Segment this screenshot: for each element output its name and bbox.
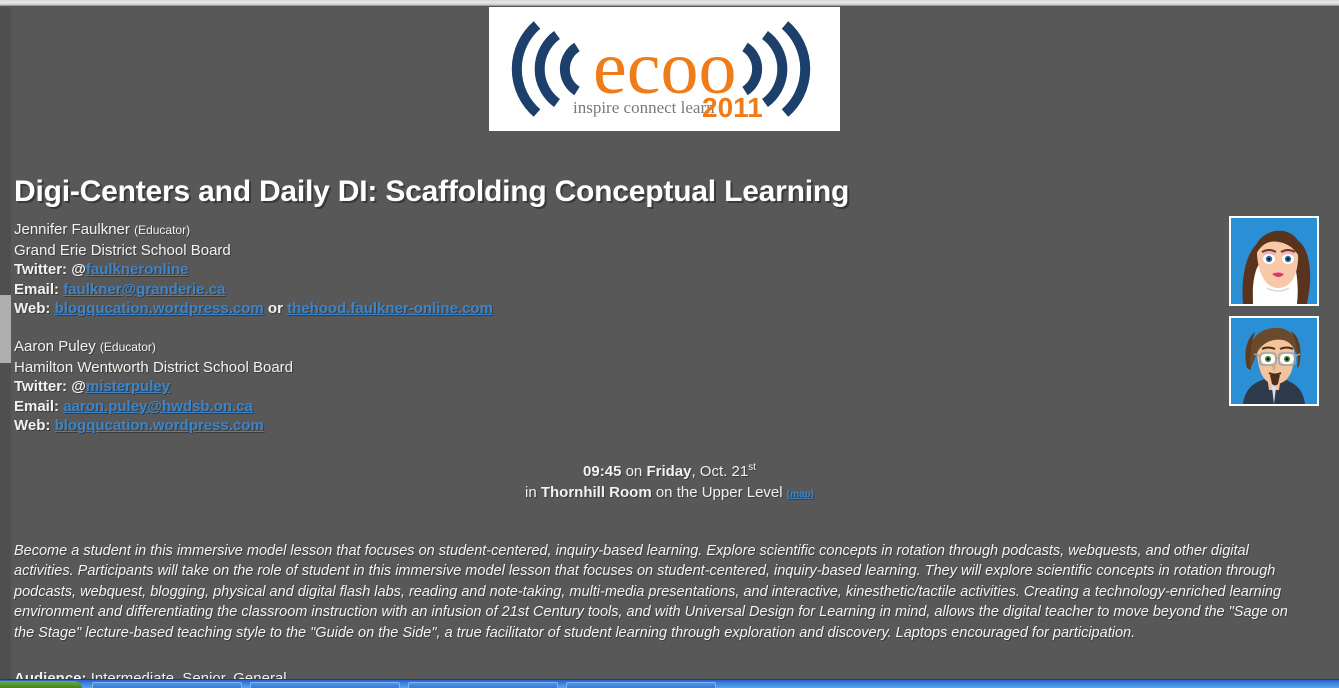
start-button[interactable]	[0, 681, 82, 688]
twitter-at-symbol: @	[71, 261, 86, 278]
session-level: on the Upper Level	[656, 484, 783, 501]
web-link-primary[interactable]: blogqucation.wordpress.com	[55, 417, 264, 434]
presenter-organization: Grand Erie District School Board	[14, 241, 493, 261]
presenter-organization: Hamilton Wentworth District School Board	[14, 358, 293, 378]
email-label: Email:	[14, 281, 59, 298]
presenter-role: (Educator)	[134, 223, 190, 237]
windows-taskbar	[0, 679, 1339, 688]
svg-text:inspire connect learn: inspire connect learn	[573, 98, 715, 117]
web-link-joiner: or	[268, 300, 283, 317]
web-link-primary[interactable]: blogqucation.wordpress.com	[55, 300, 264, 317]
twitter-label: Twitter:	[14, 378, 67, 395]
session-time-line: 09:45 on Friday, Oct. 21st	[0, 457, 1339, 482]
email-label: Email:	[14, 398, 59, 415]
taskbar-item[interactable]	[92, 682, 242, 688]
twitter-at-symbol: @	[71, 378, 86, 395]
presenter-twitter-line: Twitter: @misterpuley	[14, 377, 293, 397]
avatar	[1229, 216, 1319, 306]
email-link[interactable]: aaron.puley@hwdsb.on.ca	[63, 398, 253, 415]
browser-chrome-edge	[0, 0, 1339, 6]
session-room: Thornhill Room	[541, 484, 652, 501]
presenter-email-line: Email: aaron.puley@hwdsb.on.ca	[14, 397, 293, 417]
presenter-name-line: Aaron Puley (Educator)	[14, 337, 293, 358]
session-page: ecoo inspire connect learn 2011 Digi-Cen…	[0, 7, 1339, 688]
presenter-twitter-line: Twitter: @faulkneronline	[14, 260, 493, 280]
web-label: Web:	[14, 300, 50, 317]
ecoo-logo: ecoo inspire connect learn 2011	[489, 7, 840, 131]
page-title: Digi-Centers and Daily DI: Scaffolding C…	[14, 175, 849, 209]
taskbar-item[interactable]	[566, 682, 716, 688]
presenter-email-line: Email: faulkner@granderie.ca	[14, 280, 493, 300]
twitter-label: Twitter:	[14, 261, 67, 278]
twitter-handle-link[interactable]: misterpuley	[86, 378, 170, 395]
twitter-handle-link[interactable]: faulkneronline	[86, 261, 189, 278]
presenter-block: Jennifer Faulkner (Educator) Grand Erie …	[14, 220, 493, 319]
web-link-secondary[interactable]: thehood.faulkner-online.com	[287, 300, 493, 317]
taskbar-item[interactable]	[250, 682, 400, 688]
session-day: Friday	[646, 463, 691, 480]
presenter-name: Aaron Puley	[14, 338, 96, 355]
session-date-ordinal: st	[748, 462, 756, 473]
session-date: , Oct. 21	[691, 463, 748, 480]
presenter-block: Aaron Puley (Educator) Hamilton Wentwort…	[14, 337, 293, 436]
session-when-where: 09:45 on Friday, Oct. 21st in Thornhill …	[0, 457, 1339, 505]
avatar	[1229, 316, 1319, 406]
session-location-line: in Thornhill Room on the Upper Level (ma…	[0, 482, 1339, 505]
presenter-web-line: Web: blogqucation.wordpress.com	[14, 416, 293, 436]
location-in-word: in	[525, 484, 537, 501]
map-link[interactable]: (map)	[787, 489, 814, 500]
time-on-word: on	[626, 463, 643, 480]
session-description: Become a student in this immersive model…	[14, 541, 1297, 643]
web-label: Web:	[14, 417, 50, 434]
presenter-web-line: Web: blogqucation.wordpress.com or theho…	[14, 299, 493, 319]
presenter-name: Jennifer Faulkner	[14, 221, 130, 238]
email-link[interactable]: faulkner@granderie.ca	[63, 281, 225, 298]
svg-text:2011: 2011	[702, 92, 763, 123]
taskbar-item[interactable]	[408, 682, 558, 688]
presenter-name-line: Jennifer Faulkner (Educator)	[14, 220, 493, 241]
session-time: 09:45	[583, 463, 621, 480]
presenter-role: (Educator)	[100, 340, 156, 354]
